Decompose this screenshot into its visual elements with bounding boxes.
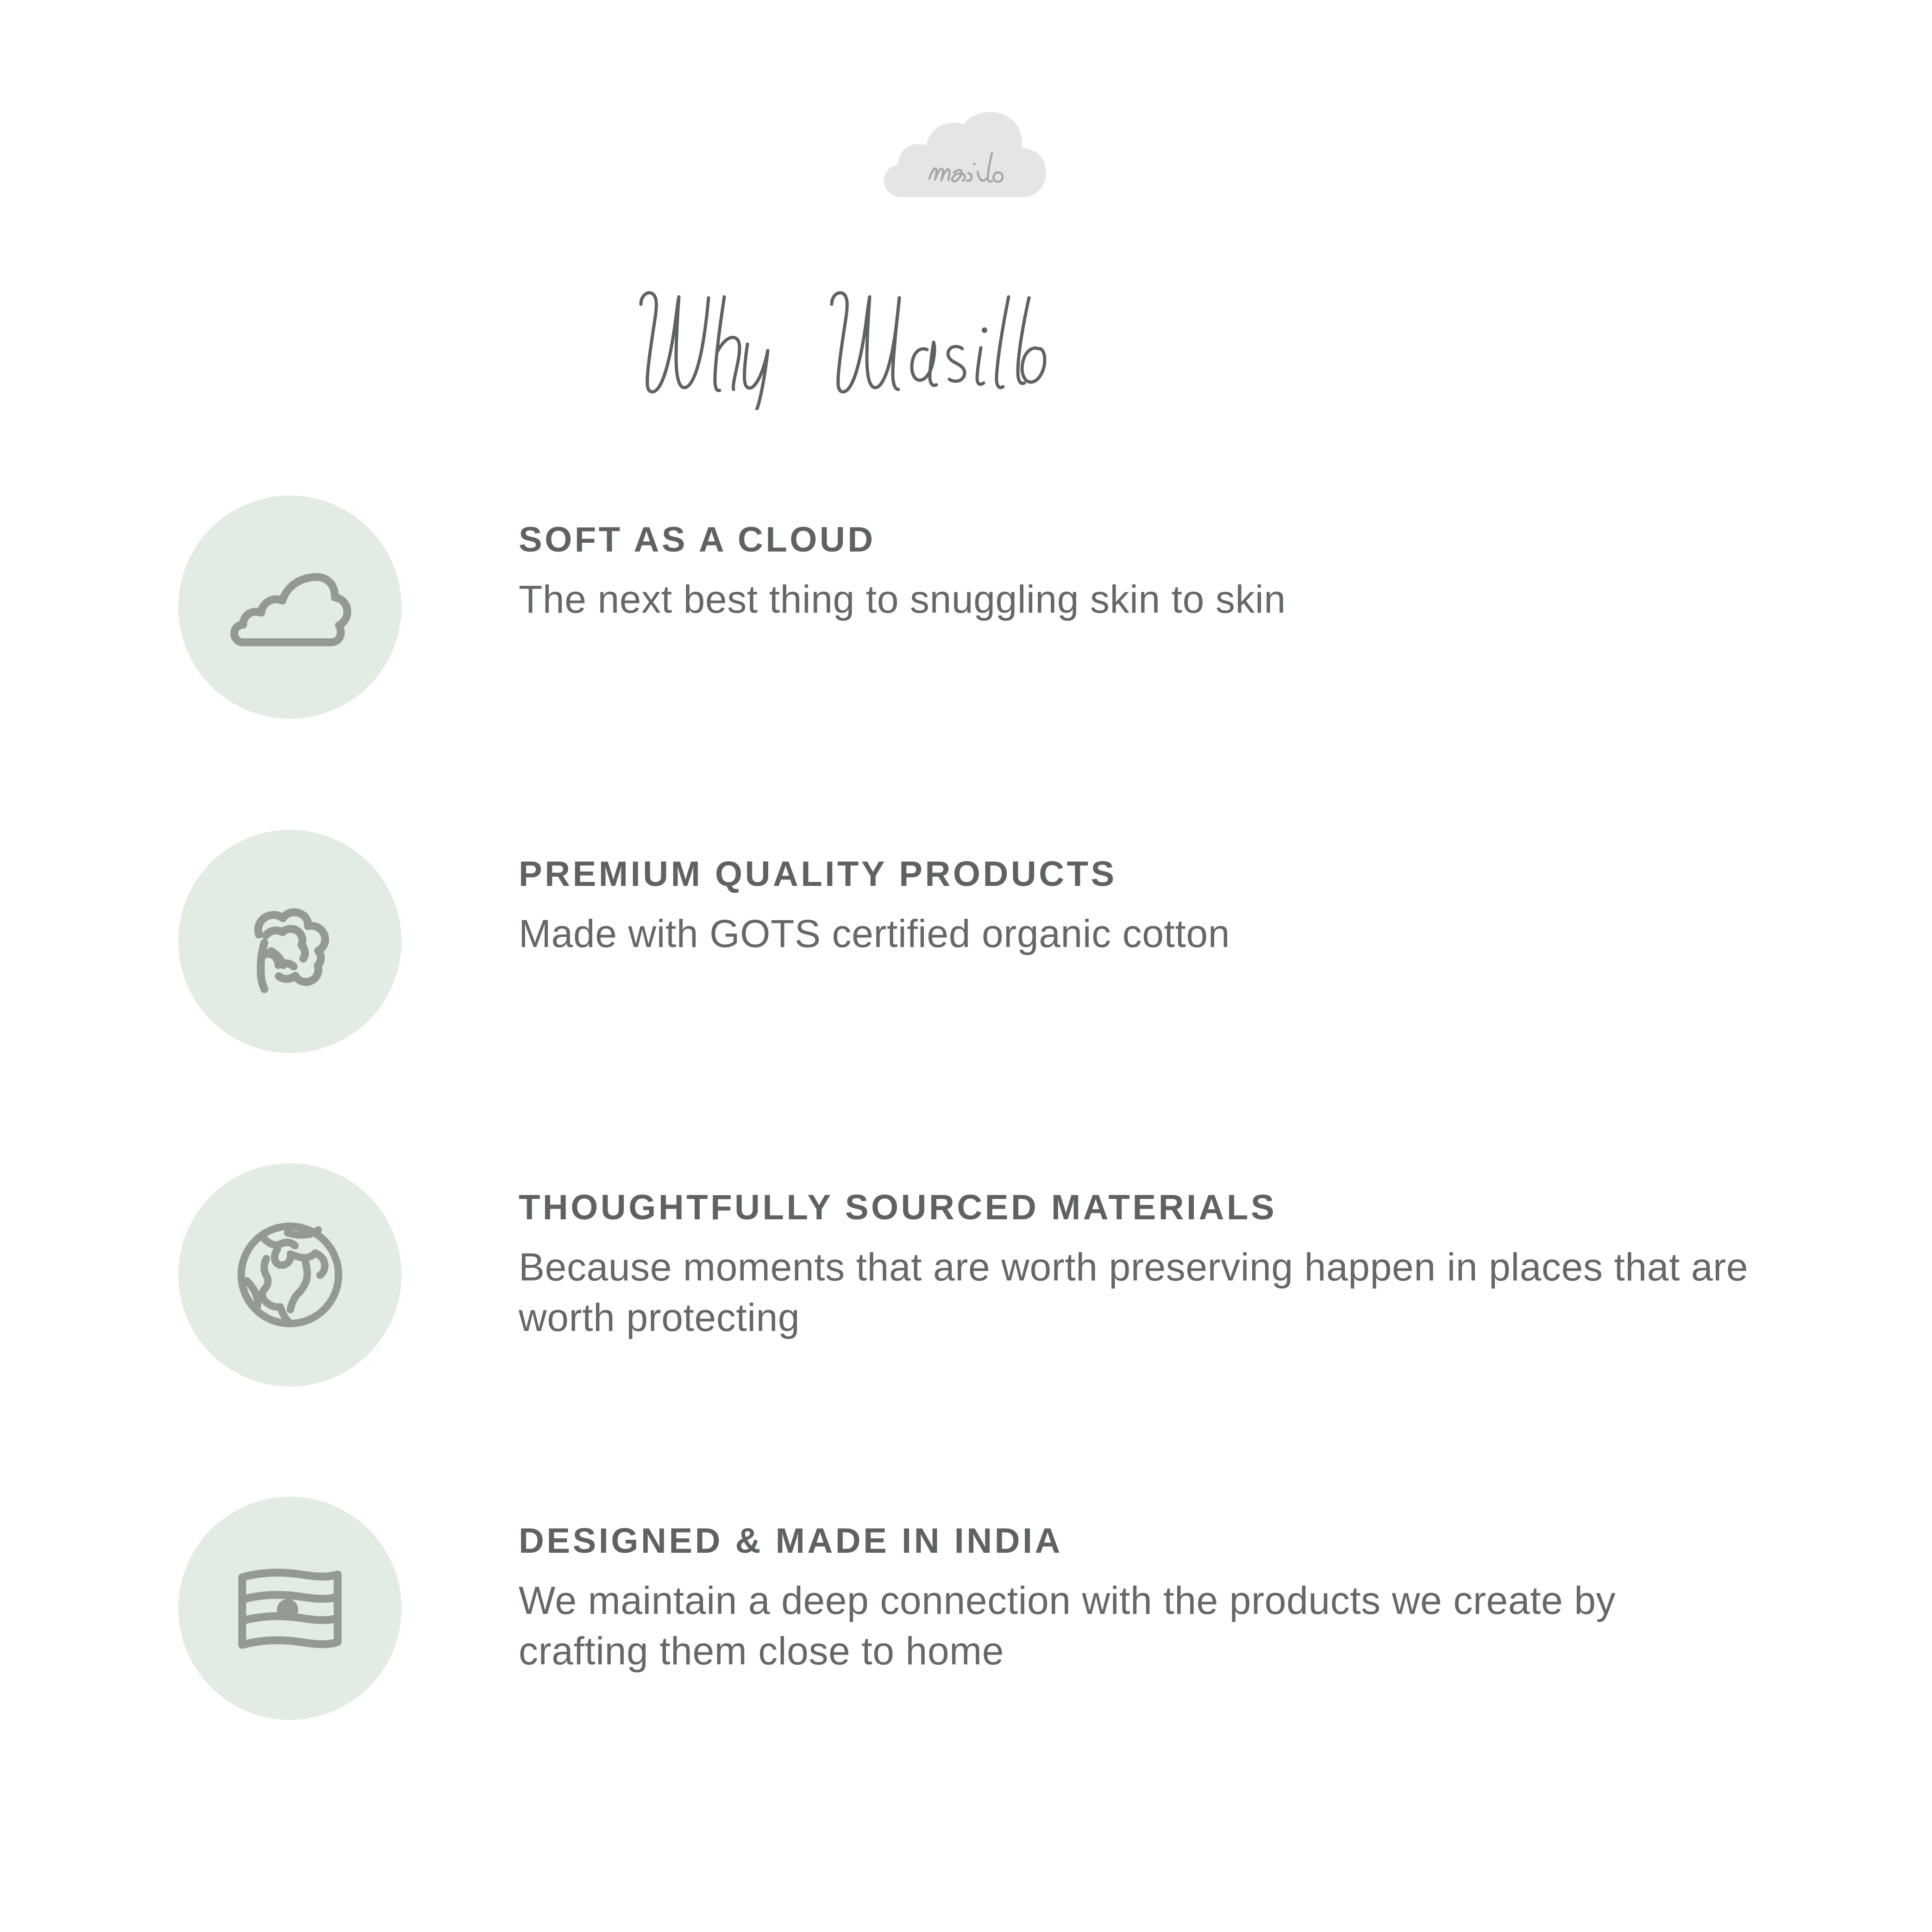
page-title: [0, 259, 1932, 412]
feature-list: SOFT AS A CLOUD The next best thing to s…: [178, 496, 1753, 1720]
feature-title: DESIGNED & MADE IN INDIA: [519, 1524, 1753, 1559]
globe-icon: [218, 1203, 362, 1347]
feature-title: SOFT AS A CLOUD: [519, 522, 1753, 558]
feature-icon-badge: [178, 1497, 401, 1720]
feature-icon-badge: [178, 496, 401, 719]
cotton-boll-icon: [218, 870, 362, 1013]
feature-text-block: PREMIUM QUALITY PRODUCTS Made with GOTS …: [401, 830, 1753, 959]
feature-item-premium-quality-products: PREMIUM QUALITY PRODUCTS Made with GOTS …: [178, 830, 1753, 1053]
feature-description: We maintain a deep connection with the p…: [519, 1559, 1753, 1676]
feature-title: THOUGHTFULLY SOURCED MATERIALS: [519, 1190, 1753, 1225]
feature-description: The next best thing to snuggling skin to…: [519, 558, 1753, 625]
cloud-icon: [218, 535, 362, 679]
feature-icon-badge: [178, 830, 401, 1053]
feature-title: PREMIUM QUALITY PRODUCTS: [519, 857, 1753, 892]
cloud-logo-icon: [880, 108, 1052, 216]
feature-icon-badge: [178, 1163, 401, 1386]
flag-icon: [218, 1537, 362, 1680]
feature-text-block: DESIGNED & MADE IN INDIA We maintain a d…: [401, 1497, 1753, 1676]
feature-item-soft-as-a-cloud: SOFT AS A CLOUD The next best thing to s…: [178, 496, 1753, 719]
feature-text-block: THOUGHTFULLY SOURCED MATERIALS Because m…: [401, 1163, 1753, 1343]
feature-item-thoughtfully-sourced-materials: THOUGHTFULLY SOURCED MATERIALS Because m…: [178, 1163, 1753, 1386]
feature-item-designed-made-in-india: DESIGNED & MADE IN INDIA We maintain a d…: [178, 1497, 1753, 1720]
why-masilo-page: SOFT AS A CLOUD The next best thing to s…: [0, 0, 1932, 1932]
page-title-script: [614, 262, 1318, 410]
feature-description: Because moments that are worth preservin…: [519, 1225, 1753, 1343]
feature-description: Made with GOTS certified organic cotton: [519, 892, 1753, 959]
feature-text-block: SOFT AS A CLOUD The next best thing to s…: [401, 496, 1753, 625]
brand-logo: [0, 104, 1932, 220]
